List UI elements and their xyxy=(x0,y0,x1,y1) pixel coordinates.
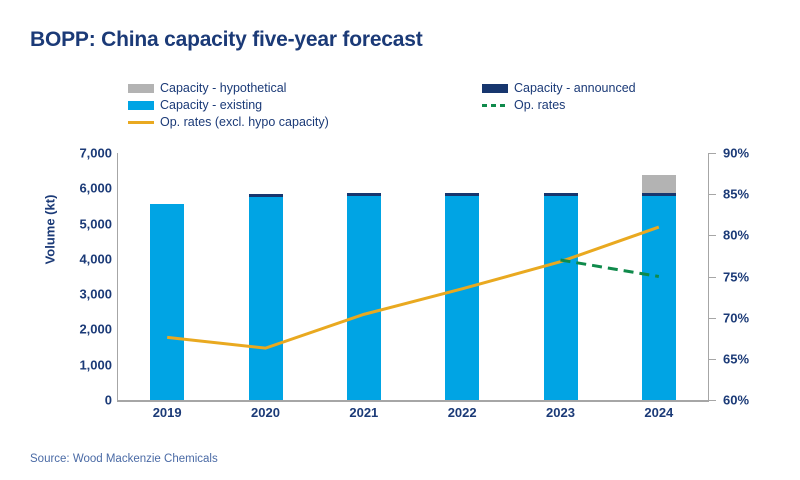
bar-segment-capacity-existing xyxy=(249,197,283,400)
y-axis-right-tick: 70% xyxy=(723,311,749,324)
legend-swatch-announced-icon xyxy=(482,84,508,93)
y-axis-right-tick: 85% xyxy=(723,188,749,201)
y-axis-right-tick: 60% xyxy=(723,394,749,407)
y-axis-right-tick: 75% xyxy=(723,270,749,283)
y-axis-right-tick: 90% xyxy=(723,147,749,160)
bar-segment-capacity-existing xyxy=(347,196,381,400)
legend-label-existing: Capacity - existing xyxy=(160,99,262,112)
series-overlay xyxy=(118,153,708,400)
x-axis: 201920202021202220232024 xyxy=(118,406,708,428)
y-axis-left: 01,0002,0003,0004,0005,0006,0007,000 xyxy=(46,153,112,400)
y-axis-right-tick-mark xyxy=(709,318,716,319)
x-axis-tick-2022: 2022 xyxy=(422,406,502,419)
y-axis-left-tick: 5,000 xyxy=(46,217,112,230)
legend-swatch-op-rates-icon xyxy=(482,101,508,110)
x-axis-tick-2020: 2020 xyxy=(226,406,306,419)
y-axis-left-tick: 4,000 xyxy=(46,252,112,265)
legend-item-capacity-hypothetical[interactable]: Capacity - hypothetical xyxy=(128,82,286,95)
x-axis-tick-2023: 2023 xyxy=(521,406,601,419)
page-title: BOPP: China capacity five-year forecast xyxy=(30,28,423,52)
bar-group-2022[interactable] xyxy=(445,193,479,400)
bar-group-2019[interactable] xyxy=(150,204,184,400)
legend-item-op-rates-excl-hypo[interactable]: Op. rates (excl. hypo capacity) xyxy=(128,116,329,129)
bar-group-2023[interactable] xyxy=(544,193,578,400)
bar-group-2024[interactable] xyxy=(642,175,676,400)
y-axis-left-tick: 7,000 xyxy=(46,147,112,160)
x-axis-tick-2024: 2024 xyxy=(619,406,699,419)
bar-group-2021[interactable] xyxy=(347,193,381,400)
x-axis-tick-2019: 2019 xyxy=(127,406,207,419)
y-axis-left-tick: 3,000 xyxy=(46,288,112,301)
y-axis-right-tick-mark xyxy=(709,235,716,236)
y-axis-right-tick-mark xyxy=(709,359,716,360)
y-axis-right-tick-mark xyxy=(709,153,716,154)
source-note: Source: Wood Mackenzie Chemicals xyxy=(30,453,218,465)
y-axis-left-tick: 0 xyxy=(46,394,112,407)
legend-swatch-existing-icon xyxy=(128,101,154,110)
y-axis-left-tick: 6,000 xyxy=(46,182,112,195)
legend-label-hypothetical: Capacity - hypothetical xyxy=(160,82,286,95)
legend-swatch-op-rates-excl-hypo-icon xyxy=(128,118,154,127)
legend-item-capacity-existing[interactable]: Capacity - existing xyxy=(128,99,262,112)
chart-legend: Capacity - hypothetical Capacity - exist… xyxy=(128,82,688,134)
legend-label-announced: Capacity - announced xyxy=(514,82,636,95)
bar-segment-capacity-existing xyxy=(445,196,479,400)
chart-card: BOPP: China capacity five-year forecast … xyxy=(0,0,800,480)
y-axis-left-tick: 1,000 xyxy=(46,358,112,371)
y-axis-right-tick-mark xyxy=(709,194,716,195)
bar-segment-capacity-existing xyxy=(642,196,676,400)
legend-item-op-rates[interactable]: Op. rates xyxy=(482,99,565,112)
legend-label-op-rates-excl-hypo: Op. rates (excl. hypo capacity) xyxy=(160,116,329,129)
legend-label-op-rates: Op. rates xyxy=(514,99,565,112)
legend-item-capacity-announced[interactable]: Capacity - announced xyxy=(482,82,636,95)
bar-segment-capacity-existing xyxy=(150,204,184,400)
x-axis-tick-2021: 2021 xyxy=(324,406,404,419)
y-axis-right-tick: 65% xyxy=(723,352,749,365)
y-axis-left-tick: 2,000 xyxy=(46,323,112,336)
plot-area xyxy=(118,153,708,400)
y-axis-right-tick: 80% xyxy=(723,229,749,242)
y-axis-right-tick-mark xyxy=(709,400,716,401)
axis-bottom-line xyxy=(117,400,709,402)
line-series-op-rates-excl-hypo-capacity xyxy=(167,227,659,348)
bar-segment-capacity-existing xyxy=(544,196,578,400)
y-axis-right: 60%65%70%75%80%85%90% xyxy=(709,153,779,400)
y-axis-right-tick-mark xyxy=(709,277,716,278)
axis-right-line xyxy=(708,153,709,401)
bar-segment-capacity-hypothetical xyxy=(642,175,676,193)
legend-swatch-hypothetical-icon xyxy=(128,84,154,93)
bar-group-2020[interactable] xyxy=(249,194,283,400)
